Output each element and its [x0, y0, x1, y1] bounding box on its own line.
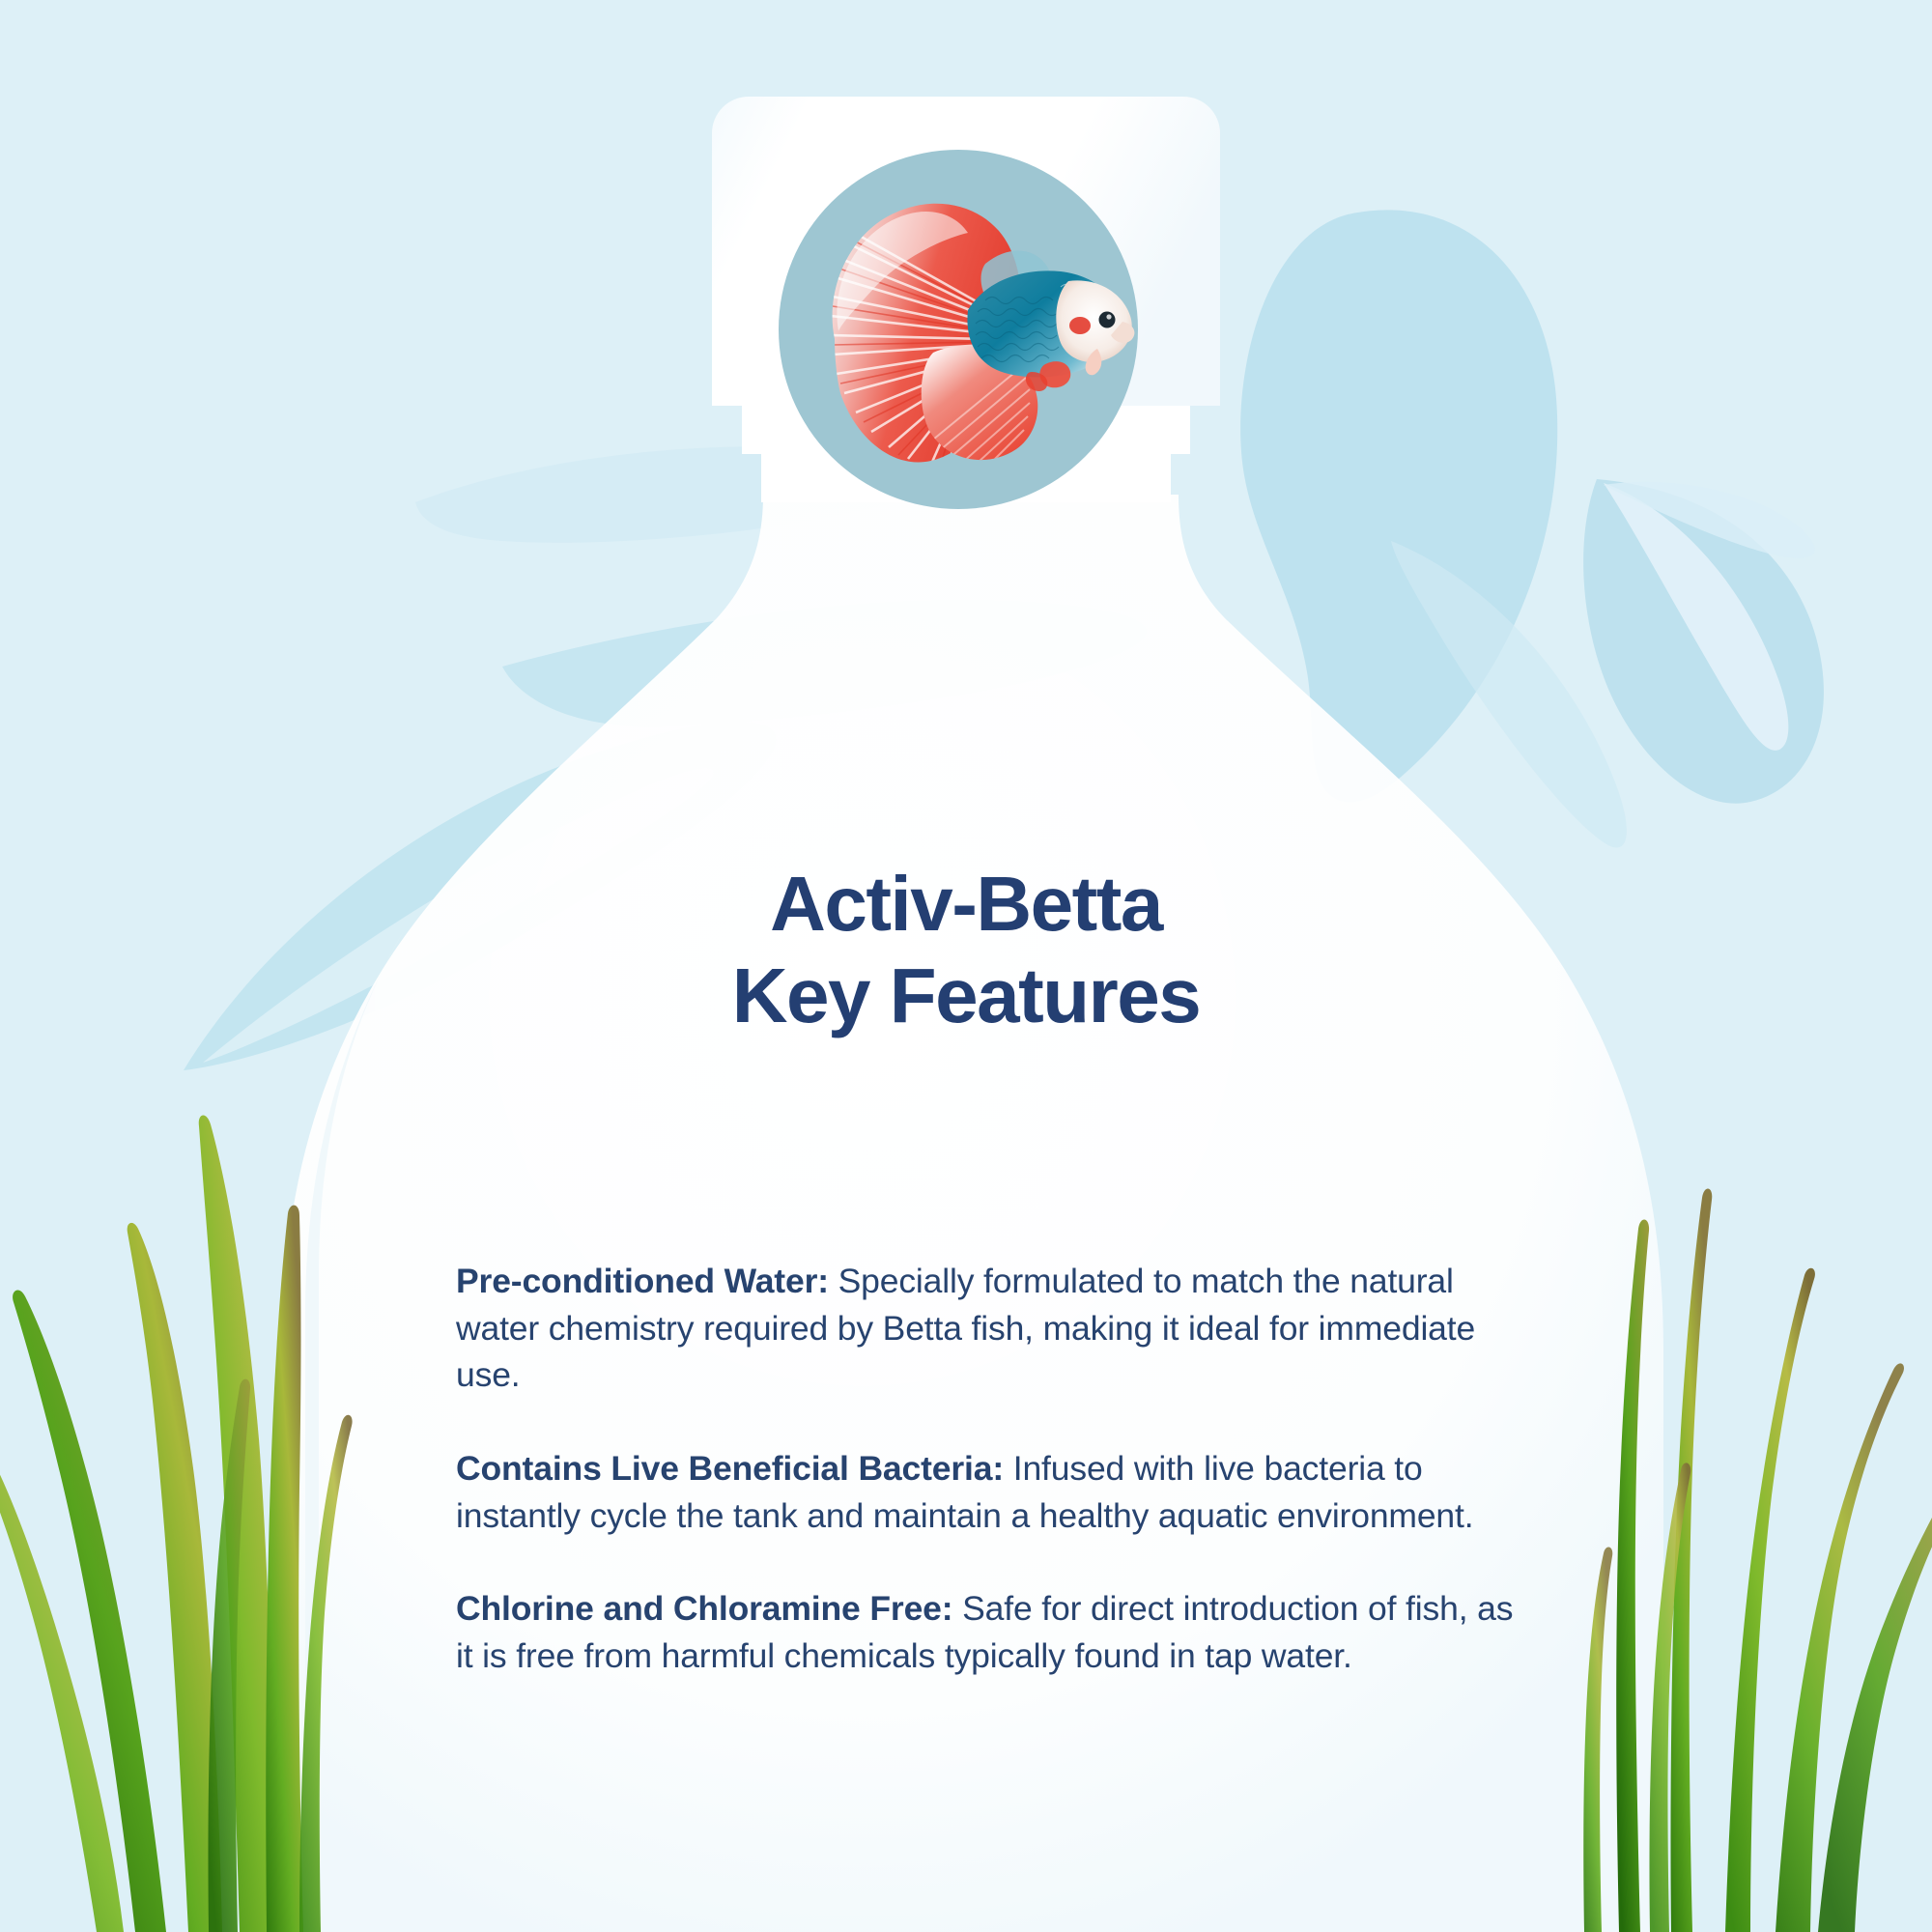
- key-features-list: Pre-conditioned Water: Specially formula…: [456, 1258, 1519, 1679]
- feature-item: Chlorine and Chloramine Free: Safe for d…: [456, 1585, 1519, 1679]
- feature-item: Pre-conditioned Water: Specially formula…: [456, 1258, 1519, 1399]
- feature-heading: Pre-conditioned Water:: [456, 1262, 829, 1300]
- feature-heading: Contains Live Beneficial Bacteria:: [456, 1449, 1004, 1488]
- page-title: Activ-Betta Key Features: [0, 858, 1932, 1041]
- betta-fish-badge: [779, 150, 1138, 509]
- infographic-canvas: Activ-Betta Key Features Pre-conditioned…: [0, 0, 1932, 1932]
- aquatic-plant-right: [1526, 1082, 1932, 1932]
- title-line-1: Activ-Betta: [0, 858, 1932, 950]
- title-line-2: Key Features: [0, 950, 1932, 1041]
- aquatic-plant-left: [0, 1063, 425, 1932]
- feature-item: Contains Live Beneficial Bacteria: Infus…: [456, 1445, 1519, 1539]
- feature-heading: Chlorine and Chloramine Free:: [456, 1589, 952, 1628]
- betta-fish-photo: [779, 150, 1138, 509]
